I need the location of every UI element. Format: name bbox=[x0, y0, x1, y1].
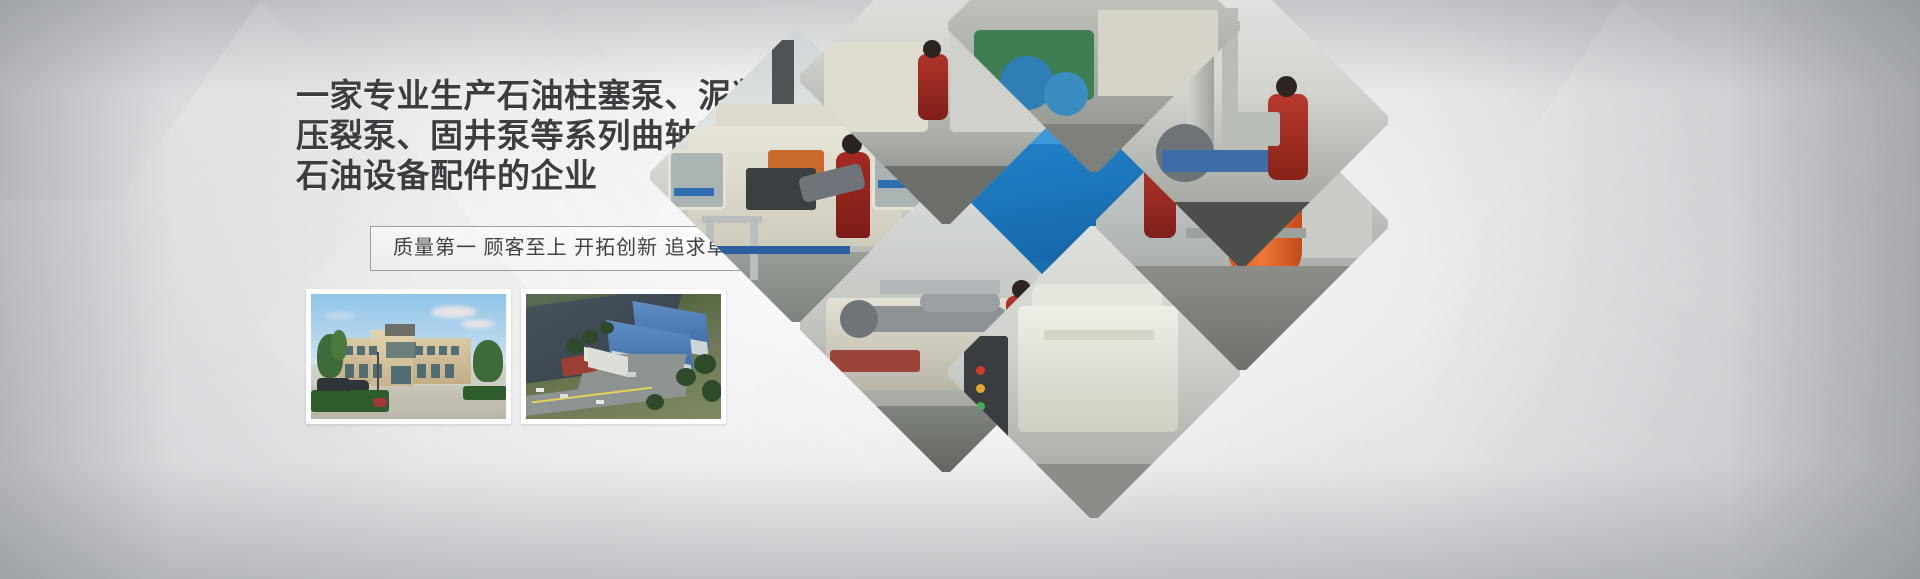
diamond-photo-collage bbox=[690, 18, 1310, 418]
office-building-photo[interactable] bbox=[306, 289, 511, 424]
office-building-scene bbox=[311, 294, 506, 419]
office-building-photo-inner bbox=[311, 294, 506, 419]
promo-banner: 一家专业生产石油柱塞泵、泥浆泵、 压裂泵、固井泵等系列曲轴和其他 石油设备配件的… bbox=[0, 0, 1920, 579]
